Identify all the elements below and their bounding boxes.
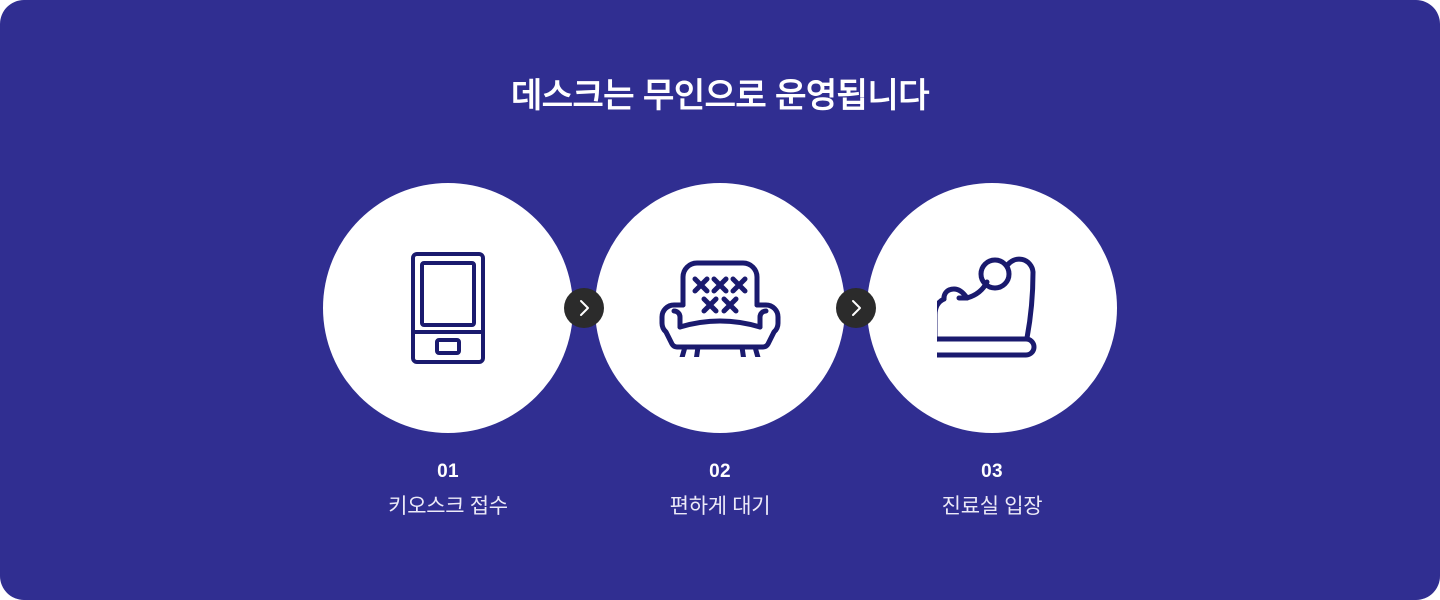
step-number-2: 02 (595, 462, 845, 483)
chevron-right-icon (849, 299, 863, 317)
kiosk-icon (411, 252, 485, 364)
connector-arrow-1[interactable] (564, 288, 604, 328)
step-label-3: 진료실 입장 (867, 494, 1117, 519)
step-number-3: 03 (867, 462, 1117, 483)
step-item-3: 03 진료실 입장 (867, 183, 1117, 519)
process-steps-panel: 데스크는 무인으로 운영됩니다 01 키오스크 접수 (0, 0, 1440, 600)
steps-row: 01 키오스크 접수 (323, 183, 1117, 523)
step-number-1: 01 (323, 462, 573, 483)
step-label-1: 키오스크 접수 (323, 494, 573, 519)
step-item-2: 02 편하게 대기 (595, 183, 845, 519)
step-item-1: 01 키오스크 접수 (323, 183, 573, 519)
sofa-icon (659, 259, 781, 357)
step-icon-circle-3 (867, 183, 1117, 433)
page-title: 데스크는 무인으로 운영됩니다 (0, 76, 1440, 117)
step-icon-circle-2 (595, 183, 845, 433)
step-icon-circle-1 (323, 183, 573, 433)
chevron-right-icon (577, 299, 591, 317)
connector-arrow-2[interactable] (836, 288, 876, 328)
reclining-patient-chair-icon (937, 252, 1047, 364)
step-label-2: 편하게 대기 (595, 494, 845, 519)
